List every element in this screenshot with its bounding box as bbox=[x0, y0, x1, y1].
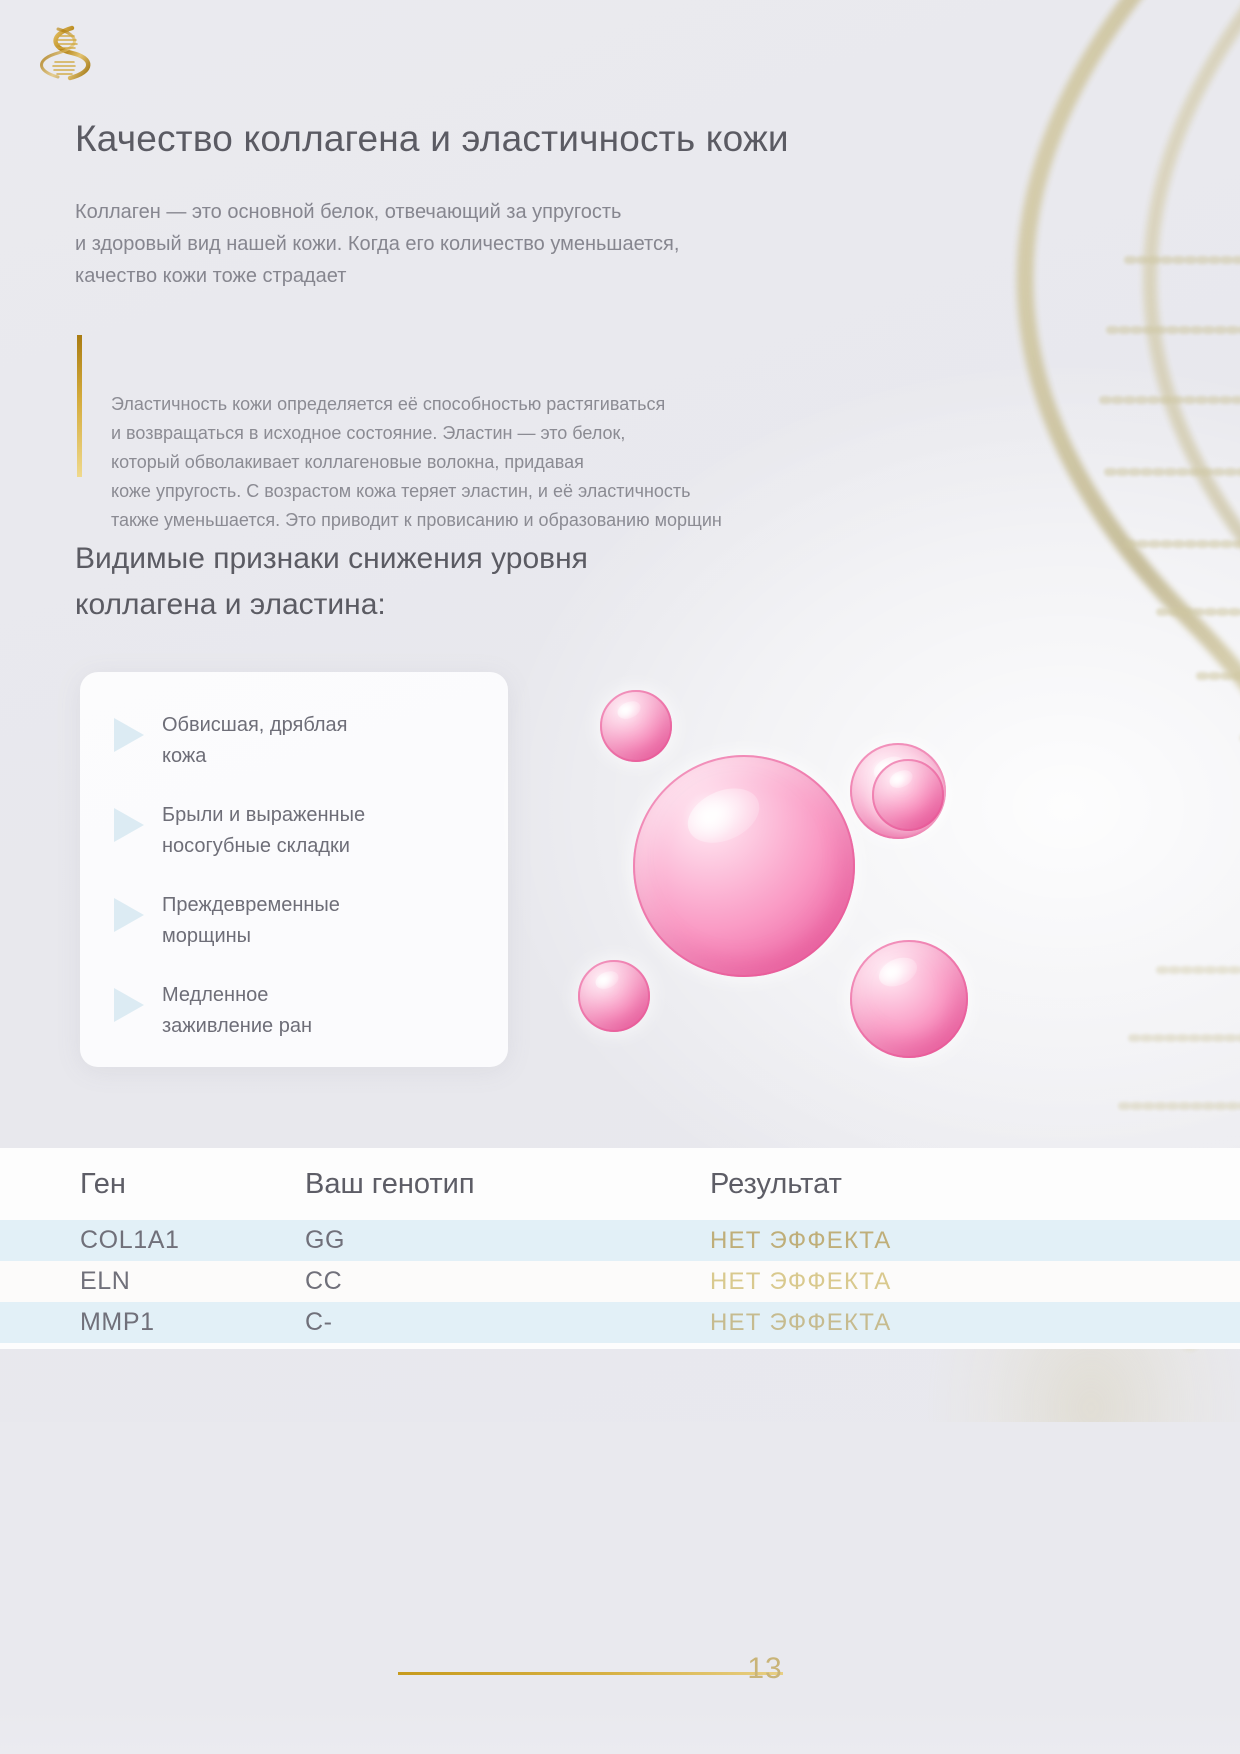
signs-card: Обвисшая, дряблая кожа Брыли и выраженны… bbox=[80, 672, 508, 1067]
list-item-label: Обвисшая, дряблая кожа bbox=[162, 708, 348, 772]
table-row: COL1A1 GG НЕТ ЭФФЕКТА bbox=[0, 1220, 1240, 1261]
list-item: Брыли и выраженные носогубные складки bbox=[106, 798, 478, 862]
page-title: Качество коллагена и эластичность кожи bbox=[75, 118, 1075, 160]
cell-gene: MMP1 bbox=[0, 1308, 305, 1337]
list-item-label: Преждевременные морщины bbox=[162, 888, 340, 952]
column-header-result: Результат bbox=[710, 1168, 1240, 1201]
cell-genotype: GG bbox=[305, 1226, 710, 1255]
bubble-small-top-left bbox=[600, 690, 672, 762]
bubble-right-lower bbox=[850, 940, 968, 1058]
list-item: Медленное заживление ран bbox=[106, 978, 478, 1042]
callout-text: Эластичность кожи определяется её способ… bbox=[111, 394, 722, 530]
triangle-right-icon bbox=[114, 898, 144, 932]
table-header-row: Ген Ваш генотип Результат bbox=[0, 1148, 1240, 1220]
footer-band bbox=[0, 1422, 1240, 1754]
table-row: ELN CC НЕТ ЭФФЕКТА bbox=[0, 1261, 1240, 1302]
list-item-label: Брыли и выраженные носогубные складки bbox=[162, 798, 365, 862]
footer-rule bbox=[398, 1672, 783, 1675]
bubble-small-bottom-left bbox=[578, 960, 650, 1032]
column-header-genotype: Ваш генотип bbox=[305, 1168, 710, 1201]
page-number: 13 bbox=[735, 1652, 795, 1686]
status-badge: НЕТ ЭФФЕКТА bbox=[710, 1309, 1240, 1337]
cell-genotype: CC bbox=[305, 1267, 710, 1296]
list-item: Обвисшая, дряблая кожа bbox=[106, 708, 478, 772]
callout-block: Эластичность кожи определяется её способ… bbox=[77, 332, 977, 535]
results-table: Ген Ваш генотип Результат COL1A1 GG НЕТ … bbox=[0, 1148, 1240, 1349]
bubble-right-upper-inner bbox=[872, 759, 944, 831]
cell-genotype: C- bbox=[305, 1308, 710, 1337]
intro-paragraph: Коллаген — это основной белок, отвечающи… bbox=[75, 196, 995, 292]
pink-bubbles-illustration bbox=[545, 655, 1065, 1085]
status-badge: НЕТ ЭФФЕКТА bbox=[710, 1227, 1240, 1255]
triangle-right-icon bbox=[114, 988, 144, 1022]
bubble-right-upper bbox=[850, 743, 946, 839]
triangle-right-icon bbox=[114, 718, 144, 752]
report-page: Качество коллагена и эластичность кожи К… bbox=[0, 0, 1240, 1754]
cell-gene: ELN bbox=[0, 1267, 305, 1296]
status-badge: НЕТ ЭФФЕКТА bbox=[710, 1268, 1240, 1296]
bubble-main bbox=[633, 755, 855, 977]
list-item: Преждевременные морщины bbox=[106, 888, 478, 952]
cell-gene: COL1A1 bbox=[0, 1226, 305, 1255]
column-header-gene: Ген bbox=[0, 1168, 305, 1201]
triangle-right-icon bbox=[114, 808, 144, 842]
callout-accent-bar bbox=[77, 335, 82, 477]
table-row: MMP1 C- НЕТ ЭФФЕКТА bbox=[0, 1302, 1240, 1343]
signs-heading: Видимые признаки снижения уровня коллаге… bbox=[75, 536, 895, 628]
dna-helix-icon bbox=[38, 22, 92, 84]
list-item-label: Медленное заживление ран bbox=[162, 978, 312, 1042]
